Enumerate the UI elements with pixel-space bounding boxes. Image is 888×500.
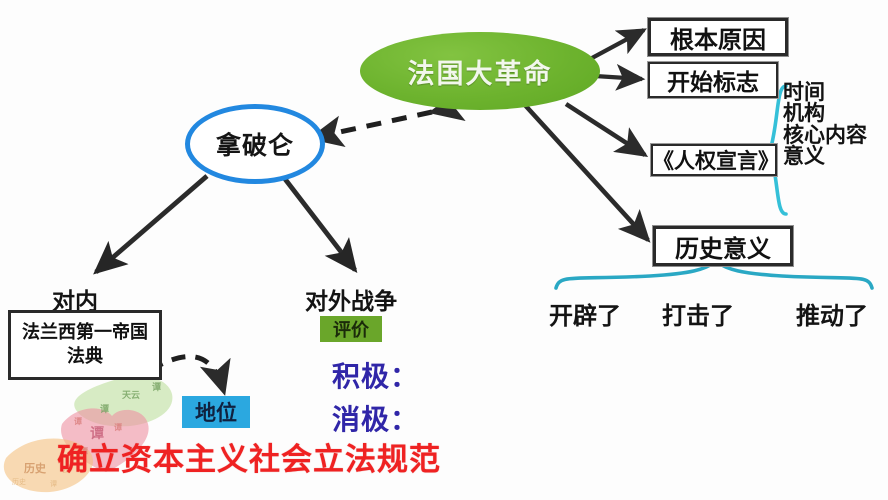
node-french-empire-code[interactable]: 法兰西第一帝国 法典 xyxy=(8,310,162,380)
svg-text:历史: 历史 xyxy=(24,461,47,475)
declaration-item-significance: 意义 xyxy=(783,146,867,167)
declaration-detail-list: 时间 机构 核心内容 意义 xyxy=(783,82,867,168)
status-badge-position[interactable]: 地位 xyxy=(182,396,250,428)
arrow-to-lishiyiyi xyxy=(524,104,648,240)
arrow-to-genbenyuanyin xyxy=(592,30,644,58)
svg-text:谭: 谭 xyxy=(74,417,82,426)
label-negative-aspect: 消极： xyxy=(332,398,419,438)
arrow-to-duinei xyxy=(96,176,207,272)
badge-evaluation[interactable]: 评价 xyxy=(320,316,382,342)
empire-code-line2: 法典 xyxy=(67,345,103,369)
significance-item-opened: 开辟了 xyxy=(549,296,621,331)
dashed-connector-napoleon-revolution xyxy=(312,112,432,138)
central-node-french-revolution[interactable]: 法国大革命 xyxy=(360,32,600,110)
node-start-marker[interactable]: 开始标志 xyxy=(648,62,778,98)
declaration-item-time: 时间 xyxy=(783,82,867,103)
mindmap-canvas: 天云谭谭 谭 谭谭谭 历史 历史谭云 法国大革命 拿破仑 根本原因 开始标志 《… xyxy=(0,0,888,500)
arrow-to-renquanxuanyan xyxy=(566,104,645,155)
svg-text:谭: 谭 xyxy=(114,423,122,432)
svg-text:谭: 谭 xyxy=(50,479,57,488)
node-root-cause[interactable]: 根本原因 xyxy=(648,18,788,56)
label-foreign-war: 对外战争 xyxy=(305,282,397,316)
declaration-item-core-content: 核心内容 xyxy=(783,125,867,146)
label-positive-aspect: 积极： xyxy=(332,355,419,395)
conclusion-text: 确立资本主义社会立法规范 xyxy=(57,434,441,479)
node-historical-significance[interactable]: 历史意义 xyxy=(653,226,793,266)
significance-item-promoted: 推动了 xyxy=(796,296,868,331)
arrow-to-kaishibiaozhi xyxy=(595,76,642,79)
svg-text:谭: 谭 xyxy=(100,404,109,415)
svg-text:天云: 天云 xyxy=(122,390,140,401)
empire-code-line1: 法兰西第一帝国 xyxy=(22,321,148,345)
declaration-item-institution: 机构 xyxy=(783,103,867,124)
arrow-to-duiwaizhanzheng xyxy=(285,179,355,270)
node-declaration-of-rights[interactable]: 《人权宣言》 xyxy=(651,144,777,176)
node-napoleon[interactable]: 拿破仑 xyxy=(185,104,325,184)
svg-text:历史: 历史 xyxy=(12,477,26,486)
svg-text:谭: 谭 xyxy=(152,382,161,393)
significance-item-struck: 打击了 xyxy=(662,296,734,331)
